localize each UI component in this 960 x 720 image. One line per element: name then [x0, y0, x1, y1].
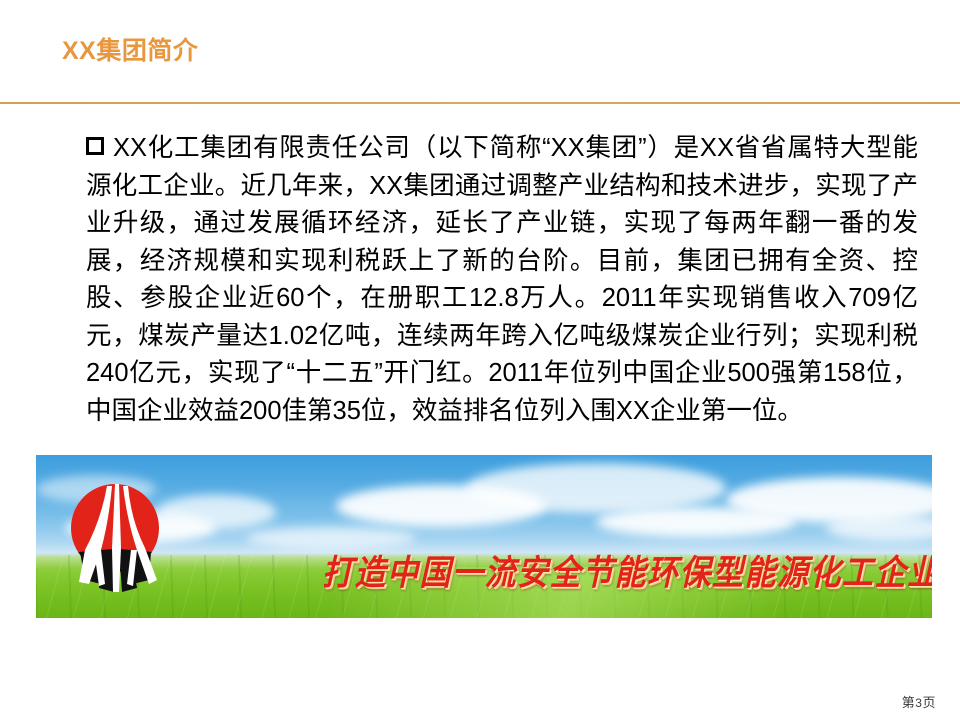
header-divider	[0, 102, 960, 104]
company-banner-image: 打造中国一流安全节能环保型能源化工企业	[36, 455, 932, 618]
cloud-shape	[156, 495, 276, 529]
page-suffix-label: 页	[922, 695, 936, 710]
slide-root: XX集团简介 XX化工集团有限责任公司（以下简称“XX集团”）是XX省省属特大型…	[0, 0, 960, 720]
slide-header: XX集团简介	[0, 0, 960, 104]
page-number-footer: 第3页	[902, 692, 936, 711]
page-title: XX集团简介	[62, 38, 198, 66]
page-prefix-label: 第	[902, 695, 916, 710]
paragraph-text: XX化工集团有限责任公司（以下简称“XX集团”）是XX省省属特大型能源化工企业。…	[86, 134, 918, 425]
body-paragraph: XX化工集团有限责任公司（以下简称“XX集团”）是XX省省属特大型能源化工企业。…	[86, 130, 918, 430]
company-sunburst-logo-icon	[61, 480, 169, 593]
hollow-square-bullet-icon	[86, 137, 104, 155]
cloud-shape	[466, 463, 726, 513]
banner-slogan: 打造中国一流安全节能环保型能源化工企业	[322, 544, 932, 594]
content-body: XX化工集团有限责任公司（以下简称“XX集团”）是XX省省属特大型能源化工企业。…	[86, 130, 918, 430]
